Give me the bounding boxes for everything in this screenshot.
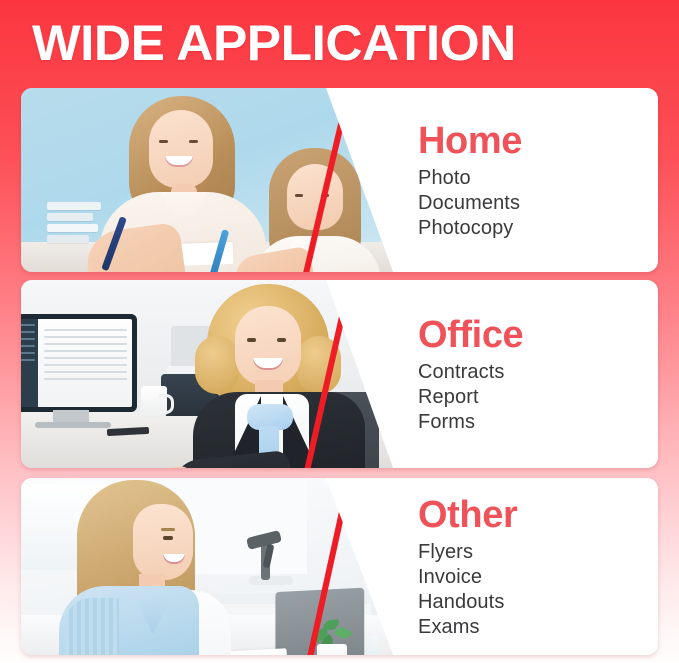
card-text-panel-other: Other Flyers Invoice Handouts Exams (396, 478, 658, 655)
list-item: Exams (418, 615, 658, 640)
potted-plant-pot (317, 644, 347, 655)
list-item: Photo (418, 166, 658, 191)
woman-eyebrow (161, 528, 175, 531)
list-item: Report (418, 385, 658, 410)
card-list-office: Contracts Report Forms (418, 360, 658, 435)
woman-eye-left (247, 338, 256, 342)
card-heading-office: Office (418, 314, 658, 356)
list-item: Forms (418, 410, 658, 435)
card-text-panel-home: Home Photo Documents Photocopy (396, 88, 658, 272)
application-card-other[interactable]: Other Flyers Invoice Handouts Exams (21, 478, 658, 655)
mother-face (149, 110, 213, 188)
woman-face (235, 306, 301, 386)
mother-eye-right (189, 140, 198, 143)
list-item: Documents (418, 191, 658, 216)
card-list-home: Photo Documents Photocopy (418, 166, 658, 241)
microscope-base (249, 576, 293, 585)
scene-other-illustration (21, 478, 393, 655)
lab-tube-two (369, 636, 378, 655)
coffee-mug (141, 386, 167, 418)
woman-face (133, 504, 193, 580)
screen-text-lines (44, 329, 127, 385)
card-heading-home: Home (418, 120, 658, 162)
card-photo-office (21, 280, 393, 468)
card-heading-other: Other (418, 494, 658, 536)
list-item: Invoice (418, 565, 658, 590)
woman-eye-right (277, 338, 286, 342)
card-list-other: Flyers Invoice Handouts Exams (418, 540, 658, 640)
list-item: Handouts (418, 590, 658, 615)
monitor-screen (21, 319, 132, 407)
card-text-panel-office: Office Contracts Report Forms (396, 280, 658, 468)
child-face (287, 164, 343, 230)
card-photo-other (21, 478, 393, 655)
screen-sidebar (21, 319, 38, 407)
computer-monitor (21, 314, 137, 412)
scene-office-illustration (21, 280, 393, 468)
application-card-home[interactable]: Home Photo Documents Photocopy (21, 88, 658, 272)
monitor-base (35, 422, 111, 428)
blue-bow-tie (247, 404, 293, 430)
card-photo-home (21, 88, 393, 272)
list-item: Photocopy (418, 216, 658, 241)
application-card-office[interactable]: Office Contracts Report Forms (21, 280, 658, 468)
application-cards: Home Photo Documents Photocopy (0, 0, 679, 663)
scene-home-illustration (21, 88, 393, 272)
mother-eye-left (159, 140, 168, 143)
woman-eye (163, 536, 173, 540)
list-item: Contracts (418, 360, 658, 385)
child-eye-left (295, 194, 303, 197)
books-stack (47, 202, 101, 246)
child-eye-right (321, 194, 329, 197)
cardigan-ribbing (65, 598, 119, 655)
list-item: Flyers (418, 540, 658, 565)
